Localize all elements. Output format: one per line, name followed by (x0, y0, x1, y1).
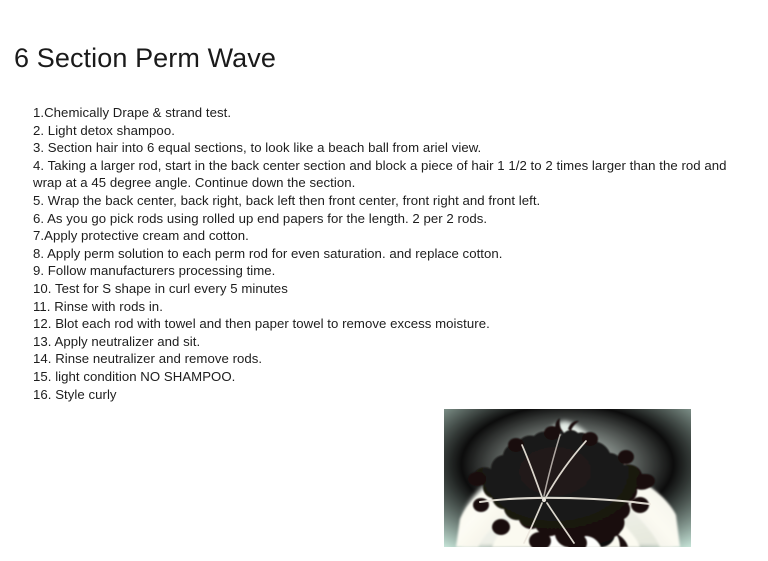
list-item: 14. Rinse neutralizer and remove rods. (33, 350, 749, 368)
list-item: 9. Follow manufacturers processing time. (33, 262, 749, 280)
list-item: 16. Style curly (33, 386, 749, 404)
list-item: 15. light condition NO SHAMPOO. (33, 368, 749, 386)
list-item: 4. Taking a larger rod, start in the bac… (33, 157, 749, 192)
slide-canvas: 6 Section Perm Wave 1.Chemically Drape &… (0, 0, 768, 561)
page-title: 6 Section Perm Wave (14, 42, 276, 74)
list-item: 13. Apply neutralizer and sit. (33, 333, 749, 351)
list-item: 7.Apply protective cream and cotton. (33, 227, 749, 245)
list-item: 11. Rinse with rods in. (33, 298, 749, 316)
list-item: 2. Light detox shampoo. (33, 122, 749, 140)
list-item: 5. Wrap the back center, back right, bac… (33, 192, 749, 210)
sectioned-hair-figure (444, 409, 691, 547)
list-item: 10. Test for S shape in curl every 5 min… (33, 280, 749, 298)
list-item: 12. Blot each rod with towel and then pa… (33, 315, 749, 333)
list-item: 1.Chemically Drape & strand test. (33, 104, 749, 122)
steps-list: 1.Chemically Drape & strand test. 2. Lig… (33, 104, 749, 403)
list-item: 8. Apply perm solution to each perm rod … (33, 245, 749, 263)
sectioned-hair-photo (444, 409, 691, 547)
list-item: 6. As you go pick rods using rolled up e… (33, 210, 749, 228)
list-item: 3. Section hair into 6 equal sections, t… (33, 139, 749, 157)
